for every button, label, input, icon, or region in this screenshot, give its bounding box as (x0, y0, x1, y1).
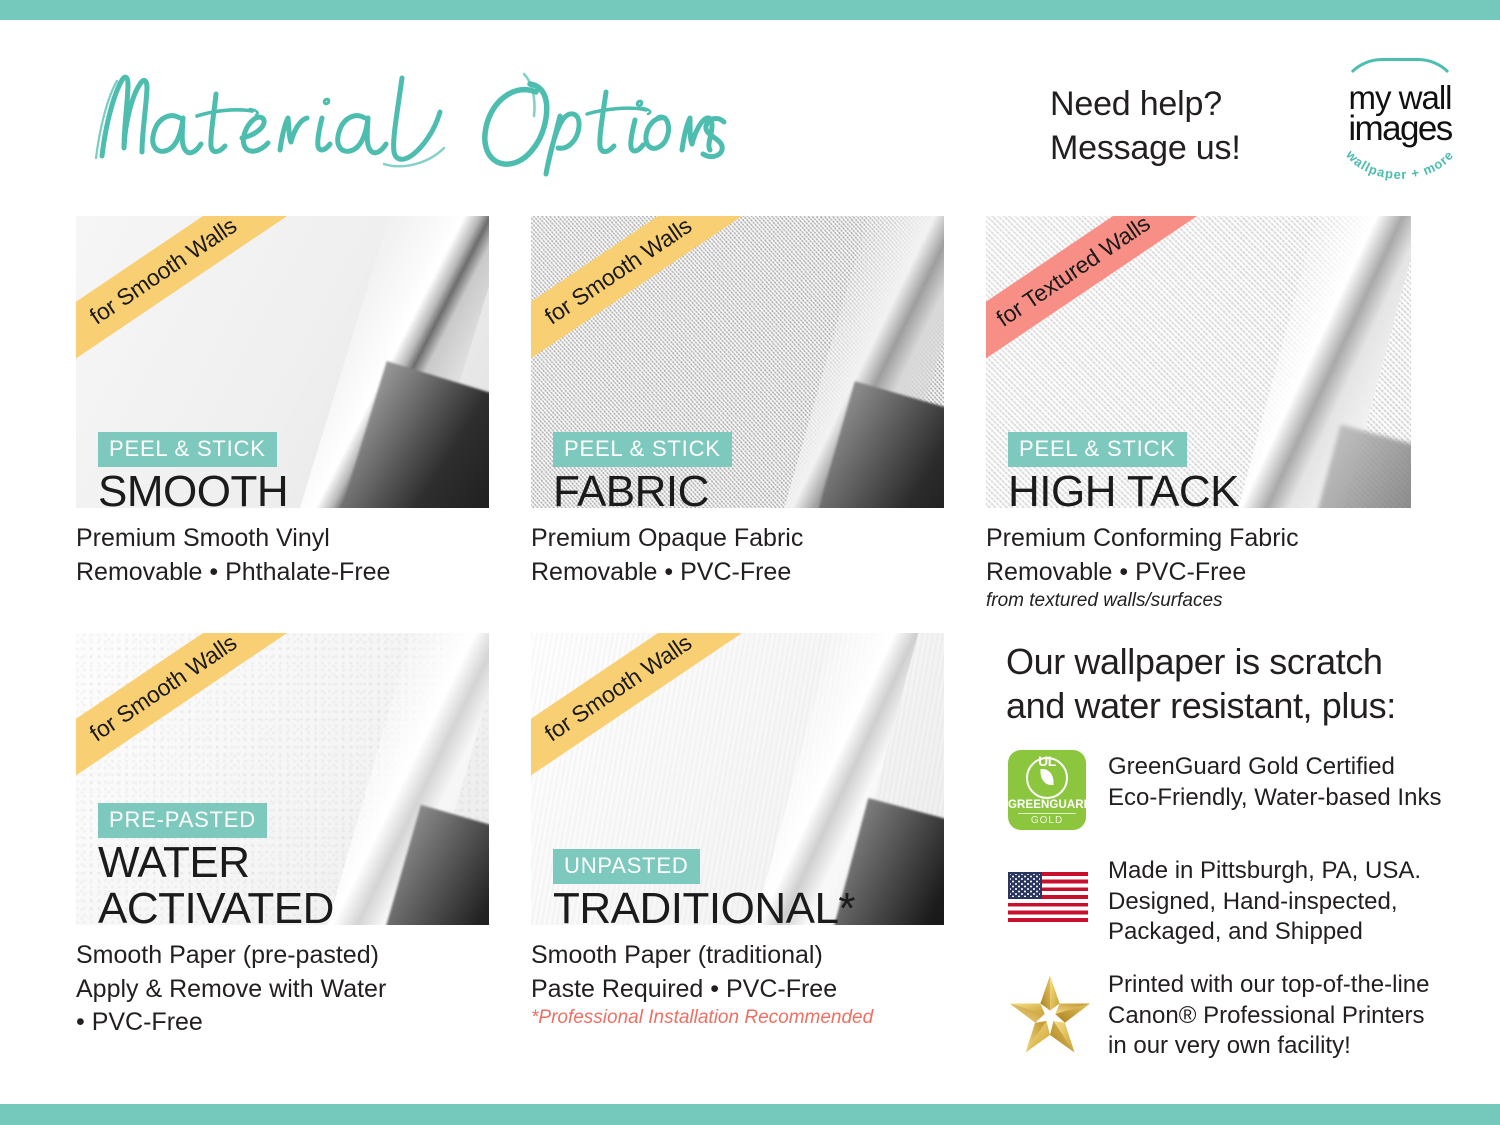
top-accent-bar (0, 0, 1500, 20)
material-name: TRADITIONAL* (553, 886, 855, 925)
swatch-labels: PEEL & STICK SMOOTH (98, 432, 288, 508)
swatch-labels: PEEL & STICK HIGH TACK (1008, 432, 1239, 508)
bottom-accent-bar (0, 1104, 1500, 1125)
application-badge: PRE-PASTED (98, 803, 267, 838)
svg-text:wallpaper + more: wallpaper + more (1343, 146, 1457, 182)
features-list: UL GREENGUARD GOLD GreenGuard Gold Certi… (1006, 750, 1456, 1062)
greenguard-tier-label: GOLD (1008, 815, 1086, 826)
material-note: from textured walls/surfaces (986, 589, 1411, 614)
material-name: WATER ACTIVATED (98, 840, 334, 925)
material-name: HIGH TACK (1008, 469, 1239, 508)
feature-canon-printers: Printed with our top-of-the-line Canon® … (1006, 968, 1456, 1062)
swatch-image: for Smooth Walls UNPASTED TRADITIONAL* (531, 633, 944, 925)
feature-text: GreenGuard Gold Certified Eco-Friendly, … (1108, 750, 1441, 813)
material-card-traditional[interactable]: for Smooth Walls UNPASTED TRADITIONAL* S… (531, 633, 944, 1031)
need-help-text: Need help? Message us! (1050, 82, 1300, 170)
gold-star-icon (1006, 968, 1094, 1054)
material-caption: Premium Smooth Vinyl Removable • Phthala… (76, 508, 489, 589)
brand-logo: my wall images wallpaper + more (1330, 50, 1470, 200)
greenguard-gold-certification-icon: UL GREENGUARD GOLD (1006, 750, 1094, 836)
swatch-labels: PRE-PASTED WATER ACTIVATED (98, 803, 334, 925)
features-panel: Our wallpaper is scratch and water resis… (1006, 640, 1456, 1082)
material-caption: Premium Opaque Fabric Removable • PVC-Fr… (531, 508, 944, 589)
swatch-labels: PEEL & STICK FABRIC (553, 432, 732, 508)
feature-text: Printed with our top-of-the-line Canon® … (1108, 968, 1430, 1062)
feature-made-in-usa: Made in Pittsburgh, PA, USA. Designed, H… (1006, 856, 1456, 948)
material-name: FABRIC (553, 469, 732, 508)
material-caption: Premium Conforming Fabric Removable • PV… (986, 508, 1411, 589)
feature-greenguard: UL GREENGUARD GOLD GreenGuard Gold Certi… (1006, 750, 1456, 836)
swatch-labels: UNPASTED TRADITIONAL* (553, 849, 855, 925)
swatch-image: for Smooth Walls PRE-PASTED WATER ACTIVA… (76, 633, 489, 925)
page-title (84, 56, 724, 176)
feature-text: Made in Pittsburgh, PA, USA. Designed, H… (1108, 856, 1421, 948)
application-badge: PEEL & STICK (1008, 432, 1187, 467)
swatch-image: for Textured Walls PEEL & STICK HIGH TAC… (986, 216, 1411, 508)
features-heading: Our wallpaper is scratch and water resis… (1006, 640, 1456, 728)
application-badge: UNPASTED (553, 849, 700, 884)
material-card-smooth[interactable]: for Smooth Walls PEEL & STICK SMOOTH Pre… (76, 216, 489, 589)
usa-flag-icon (1006, 856, 1094, 942)
material-card-fabric[interactable]: for Smooth Walls PEEL & STICK FABRIC Pre… (531, 216, 944, 589)
material-caption: Smooth Paper (traditional) Paste Require… (531, 925, 944, 1006)
material-card-water-activated[interactable]: for Smooth Walls PRE-PASTED WATER ACTIVA… (76, 633, 489, 1040)
greenguard-name-label: GREENGUARD (1008, 799, 1086, 811)
swatch-image: for Smooth Walls PEEL & STICK FABRIC (531, 216, 944, 508)
material-name: SMOOTH (98, 469, 288, 508)
logo-tagline: wallpaper + more (1338, 146, 1462, 194)
logo-word-line2: images (1330, 112, 1470, 146)
page-header: Need help? Message us! my wall images wa… (0, 20, 1500, 216)
material-card-high-tack[interactable]: for Textured Walls PEEL & STICK HIGH TAC… (986, 216, 1411, 614)
application-badge: PEEL & STICK (98, 432, 277, 467)
material-caption: Smooth Paper (pre-pasted) Apply & Remove… (76, 925, 489, 1040)
greenguard-ul-label: UL (1008, 753, 1086, 769)
swatch-image: for Smooth Walls PEEL & STICK SMOOTH (76, 216, 489, 508)
application-badge: PEEL & STICK (553, 432, 732, 467)
material-note: *Professional Installation Recommended (531, 1006, 944, 1031)
